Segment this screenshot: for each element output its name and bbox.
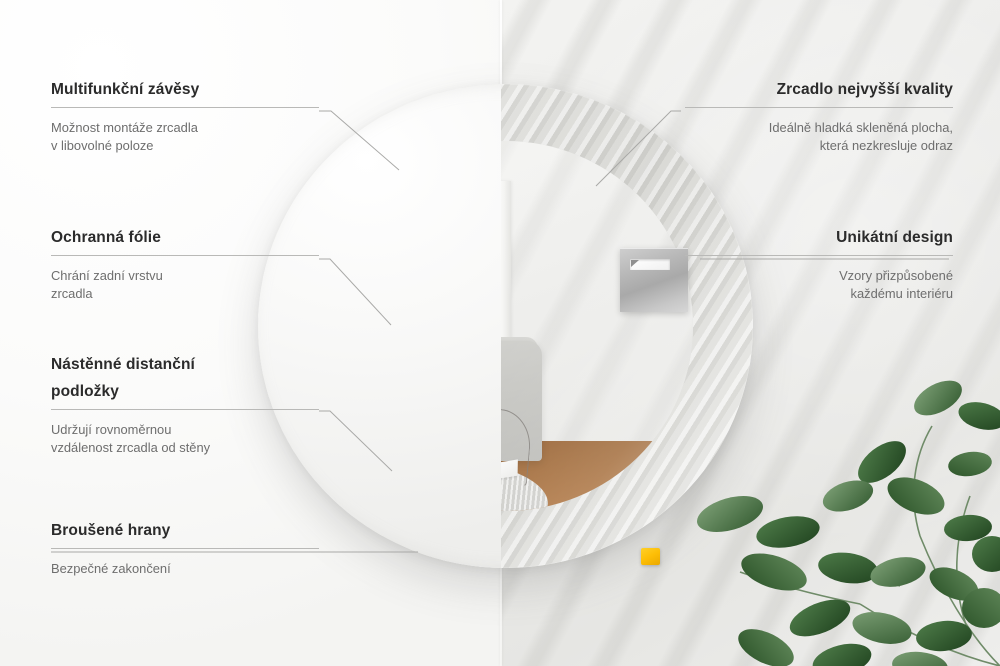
- callout-desc-line-1: Vzory přizpůsobené: [685, 267, 953, 285]
- callout-title: Broušené hrany: [51, 521, 319, 541]
- mirror-product: [258, 84, 753, 568]
- callout-desc-line-1: Ideálně hladká skleněná plocha,: [685, 119, 953, 137]
- callout-desc-line-2: v libovolné poloze: [51, 137, 319, 155]
- callout-brousene-hrany: Broušené hrany Bezpečné zakončení: [51, 521, 319, 578]
- callout-desc-line-2: která nezkresluje odraz: [685, 137, 953, 155]
- mirror-back-layer: [258, 84, 501, 568]
- callout-ochranna-folie: Ochranná fólie Chrání zadní vrstvu zrcad…: [51, 228, 319, 303]
- callout-nastenne-distancni-podlozky: Nástěnné distanční podložky Udržují rovn…: [51, 355, 319, 457]
- callout-rule: [51, 255, 319, 256]
- callout-title: Unikátní design: [685, 228, 953, 248]
- callout-desc-line-1: Možnost montáže zrcadla: [51, 119, 319, 137]
- callout-desc-line-2: zrcadla: [51, 285, 319, 303]
- callout-title-line-1: Nástěnné distanční: [51, 355, 319, 375]
- callout-title: Ochranná fólie: [51, 228, 319, 248]
- callout-desc-line-2: každému interiéru: [685, 285, 953, 303]
- callout-desc-line-1: Bezpečné zakončení: [51, 560, 319, 578]
- mirror-protective-foil: [258, 84, 501, 568]
- callout-rule: [51, 548, 319, 549]
- callout-unikatni-design: Unikátní design Vzory přizpůsobené každé…: [685, 228, 953, 303]
- hanger-plate: [620, 248, 688, 312]
- callout-desc-line-2: vzdálenost zrcadla od stěny: [51, 439, 319, 457]
- product-feature-infographic: Multifunkční závěsy Možnost montáže zrca…: [0, 0, 1000, 666]
- callout-desc-line-1: Udržují rovnoměrnou: [51, 421, 319, 439]
- callout-rule: [51, 107, 319, 108]
- callout-rule: [685, 255, 953, 256]
- hanger-slot-icon: [630, 259, 670, 270]
- callout-multifunkcni-zavesy: Multifunkční závěsy Možnost montáže zrca…: [51, 80, 319, 155]
- callout-desc-line-1: Chrání zadní vrstvu: [51, 267, 319, 285]
- spacer-pad: [641, 548, 660, 565]
- callout-title: Zrcadlo nejvyšší kvality: [685, 80, 953, 100]
- callout-title: Multifunkční závěsy: [51, 80, 319, 100]
- callout-rule: [51, 409, 319, 410]
- callout-rule: [685, 107, 953, 108]
- callout-title-line-2: podložky: [51, 382, 319, 402]
- callout-zrcadlo-nejvyssi-kvality: Zrcadlo nejvyšší kvality Ideálně hladká …: [685, 80, 953, 155]
